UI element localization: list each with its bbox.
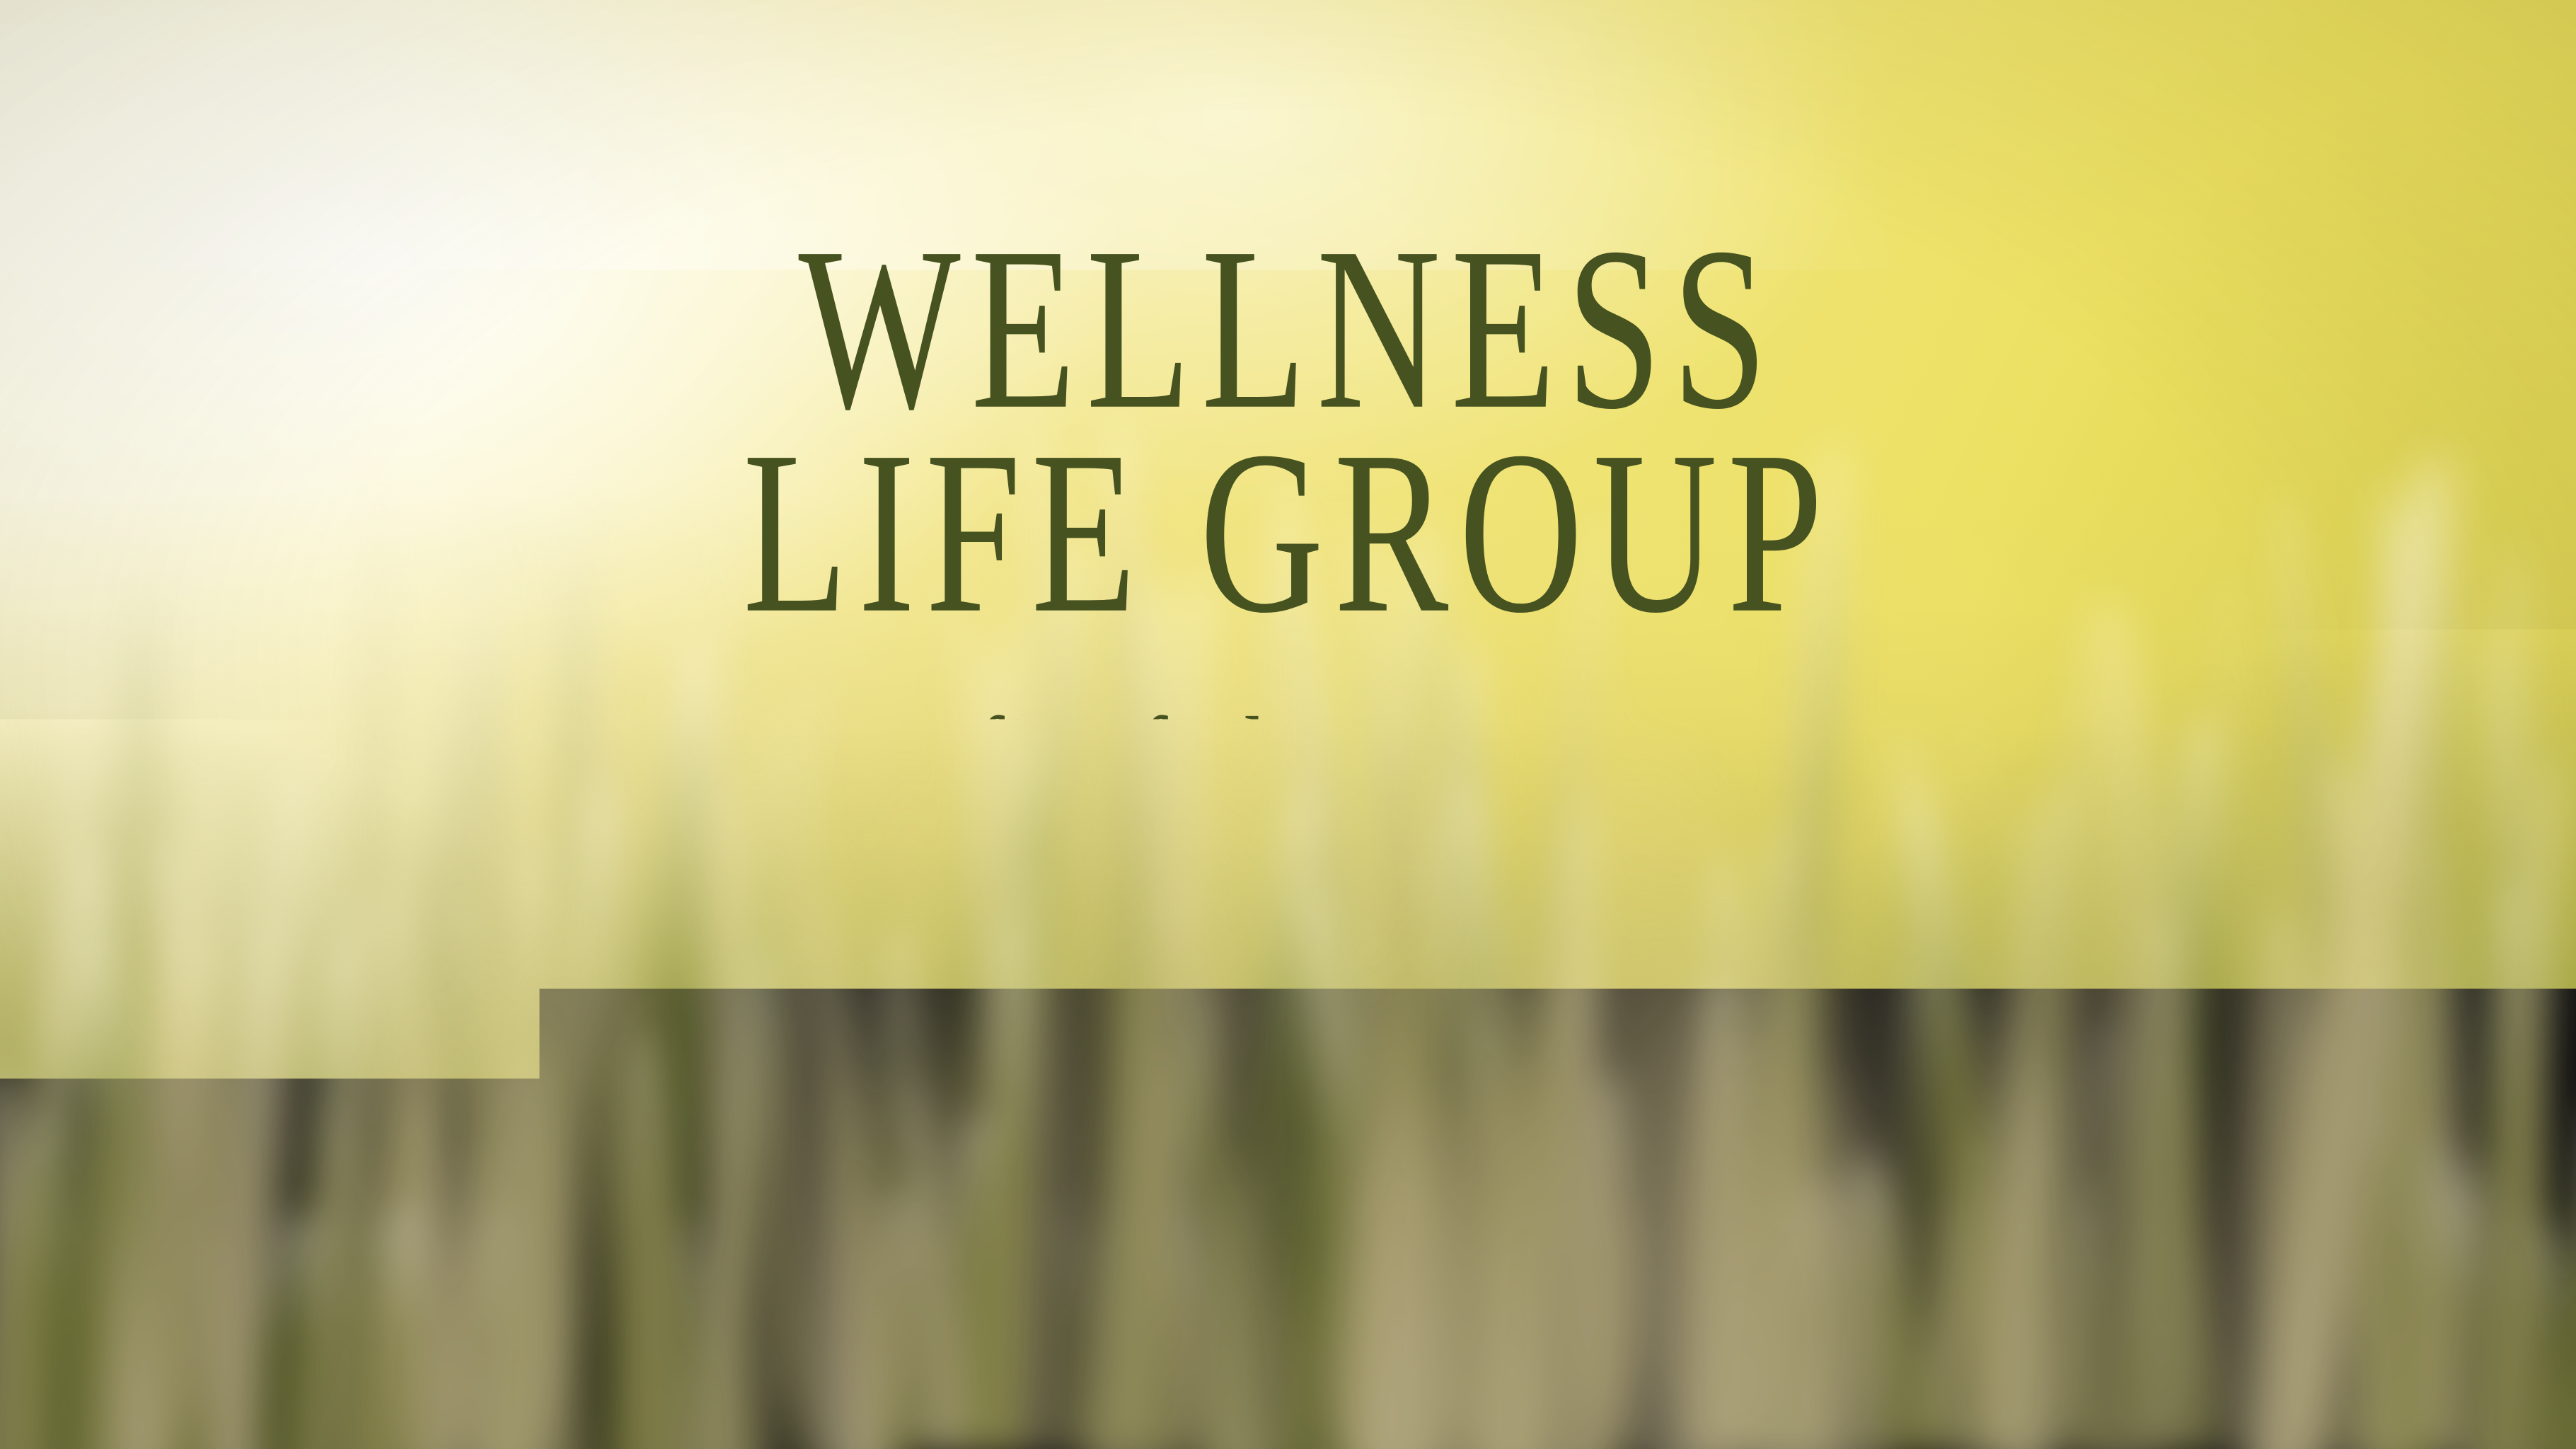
time-start-period: PM [1082, 838, 1192, 934]
page-title-line-2: LIFE GROUP [129, 416, 2447, 649]
poster-text-content: WELLNESS LIFE GROUP every first friday o… [0, 0, 2576, 1449]
contact-prefix: Please contact Pastor Chris Chan at [110, 1087, 1158, 1175]
contact-email-link[interactable]: wellness@charismacenter.com [1177, 1087, 2057, 1175]
time-start-number: 7 [1029, 807, 1082, 940]
contact-suffix: for more info. [2074, 1087, 2466, 1175]
contact-line: Please contact Pastor Chris Chan at well… [39, 1092, 2538, 1172]
schedule-frequency-text: every first friday of the month [52, 703, 2524, 802]
schedule-time-text: 7PM-8:30PM [52, 814, 2524, 935]
poster-canvas: WELLNESS LIFE GROUP every first friday o… [0, 0, 2576, 1449]
time-end-number: 8:30 [1250, 807, 1437, 940]
time-dash: - [1191, 814, 1250, 918]
time-end-period: PM [1437, 838, 1547, 934]
